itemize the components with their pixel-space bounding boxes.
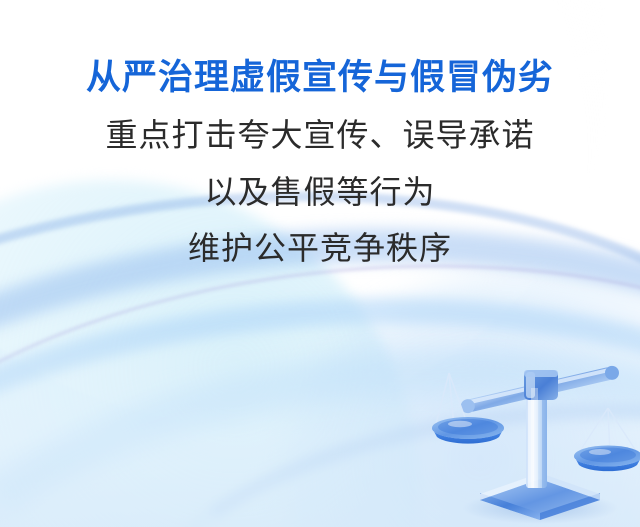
poster-headline: 从严治理虚假宣传与假冒伪劣: [0, 56, 640, 99]
poster-subline-3: 维护公平竞争秩序: [0, 228, 640, 268]
poster-subline-1: 重点打击夸大宣传、误导承诺: [0, 115, 640, 155]
message-text-block: 从严治理虚假宣传与假冒伪劣 重点打击夸大宣传、误导承诺 以及售假等行为 维护公平…: [0, 56, 640, 268]
scales-of-justice-illustration: [432, 348, 640, 527]
poster-canvas: 从严治理虚假宣传与假冒伪劣 重点打击夸大宣传、误导承诺 以及售假等行为 维护公平…: [0, 0, 640, 527]
poster-subline-2: 以及售假等行为: [0, 172, 640, 212]
